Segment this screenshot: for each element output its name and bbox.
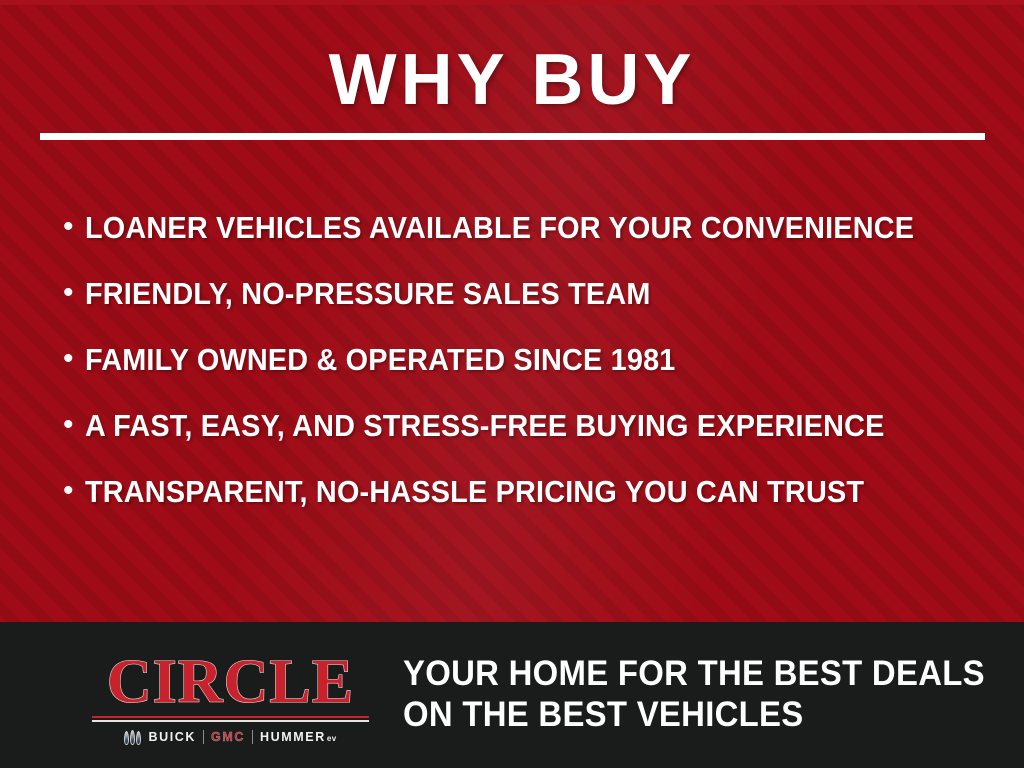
logo-divider-rules [88,716,373,722]
tagline-line-2: ON THE BEST VEHICLES [403,695,987,736]
benefits-list: • LOANER VEHICLES AVAILABLE FOR YOUR CON… [63,212,984,542]
bullet-dot-icon: • [63,410,85,440]
page-title: WHY BUY [0,44,1024,116]
bullet-dot-icon: • [63,344,85,374]
buick-tri-shield-icon [124,730,141,745]
brand-strip: BUICK GMC HUMMER ev [88,729,373,746]
brand-separator-icon [252,730,253,744]
list-item: • FRIENDLY, NO-PRESSURE SALES TEAM [63,278,984,344]
list-item-label: A FAST, EASY, AND STRESS-FREE BUYING EXP… [85,410,885,441]
logo-rule-white [92,720,369,722]
brand-label-buick: BUICK [148,731,196,744]
brand-separator-icon [203,730,204,744]
list-item: • TRANSPARENT, NO-HASSLE PRICING YOU CAN… [63,476,984,542]
tagline-line-1: YOUR HOME FOR THE BEST DEALS [403,654,987,695]
list-item-label: FRIENDLY, NO-PRESSURE SALES TEAM [85,278,651,309]
brand-label-gmc: GMC [211,731,245,744]
list-item: • A FAST, EASY, AND STRESS-FREE BUYING E… [63,410,984,476]
list-item-label: TRANSPARENT, NO-HASSLE PRICING YOU CAN T… [85,476,864,507]
bullet-dot-icon: • [63,278,85,308]
brand-label-hummer-ev-suffix: ev [327,734,337,743]
logo-rule-red [92,716,369,718]
brand-label-hummer: HUMMER [260,731,326,744]
list-item-label: LOANER VEHICLES AVAILABLE FOR YOUR CONVE… [85,212,914,243]
footer-tagline: YOUR HOME FOR THE BEST DEALS ON THE BEST… [373,650,1024,736]
footer-bar: CIRCLE BUICK GMC HUMMER ev YOUR HO [0,622,1024,768]
hero-content: WHY BUY • LOANER VEHICLES AVAILABLE FOR … [0,0,1024,622]
bullet-dot-icon: • [63,476,85,506]
slide-root: WHY BUY • LOANER VEHICLES AVAILABLE FOR … [0,0,1024,768]
list-item: • FAMILY OWNED & OPERATED SINCE 1981 [63,344,984,410]
title-underline-rule [40,133,985,140]
logo-wordmark: CIRCLE [88,652,373,713]
list-item: • LOANER VEHICLES AVAILABLE FOR YOUR CON… [63,212,984,278]
brand-label-hummer-group: HUMMER ev [260,731,337,744]
dealer-logo: CIRCLE BUICK GMC HUMMER ev [88,650,373,746]
hero-section: WHY BUY • LOANER VEHICLES AVAILABLE FOR … [0,0,1024,622]
bullet-dot-icon: • [63,212,85,242]
list-item-label: FAMILY OWNED & OPERATED SINCE 1981 [85,344,676,375]
